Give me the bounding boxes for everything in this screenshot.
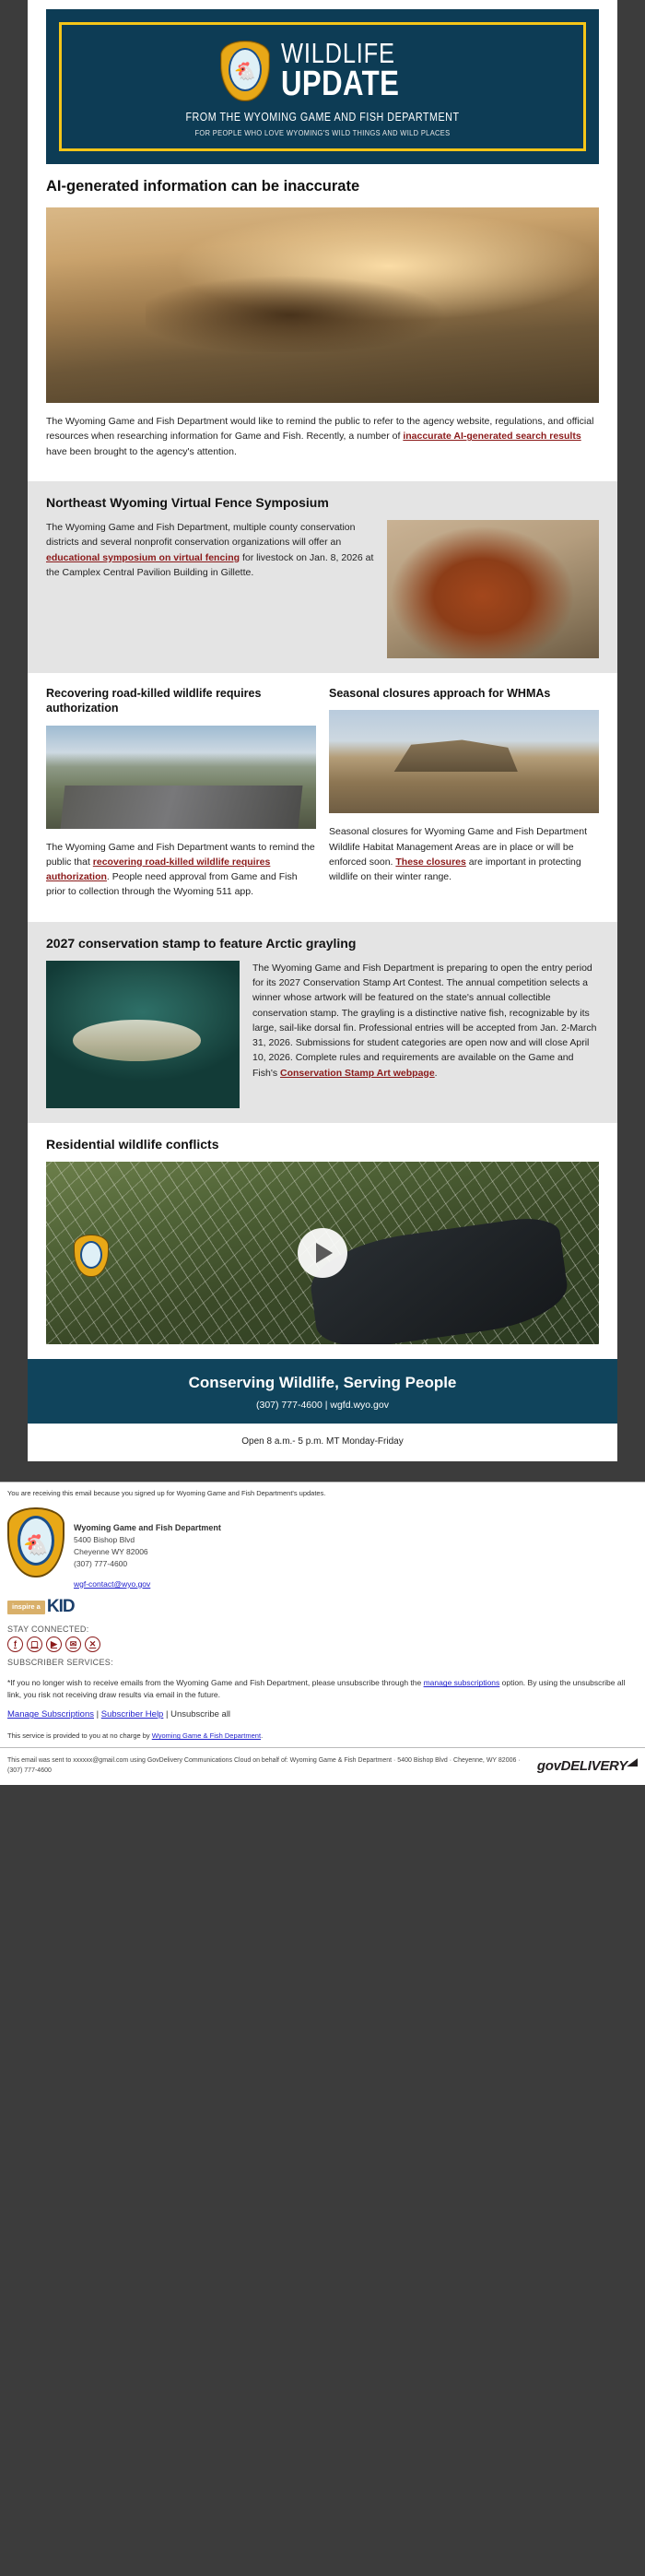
agency-link[interactable]: Wyoming Game & Fish Department <box>152 1731 261 1740</box>
article-body-part1: The Wyoming Game and Fish Department, mu… <box>46 522 355 548</box>
manage-subscriptions-inline-link[interactable]: manage subscriptions <box>424 1678 500 1687</box>
agency-badge-icon: 🐔 <box>220 41 270 101</box>
article-headline: Recovering road-killed wildlife requires… <box>46 686 316 716</box>
masthead-title-update: UPDATE <box>281 66 399 101</box>
article-headline: Residential wildlife conflicts <box>46 1136 599 1152</box>
masthead-tagline: FOR PEOPLE WHO LOVE WYOMING'S WILD THING… <box>101 128 544 137</box>
footer-address-row: 🐔 Wyoming Game and Fish Department 5400 … <box>0 1506 645 1590</box>
link-separator-1: | <box>94 1709 101 1719</box>
manage-subscriptions-link[interactable]: Manage Subscriptions <box>7 1709 94 1719</box>
footer-phone: (307) 777-4600 <box>74 1558 221 1570</box>
subscriber-help-link[interactable]: Subscriber Help <box>101 1709 164 1719</box>
article-headline: Seasonal closures approach for WHMAs <box>329 686 599 701</box>
masthead-container: 🐔 WILDLIFE UPDATE FROM THE WYOMING GAME … <box>28 0 617 164</box>
email-icon[interactable]: ✉ <box>65 1637 81 1652</box>
footer-org-name: Wyoming Game and Fish Department <box>74 1522 221 1535</box>
article-image-virtual-fence-cow <box>387 520 599 658</box>
service-note-part1: This service is provided to you at no ch… <box>7 1731 152 1740</box>
inspire-kid-label: KID <box>47 1597 75 1617</box>
article-image-ai-elk <box>46 207 599 403</box>
instagram-icon[interactable]: ▢ <box>27 1637 42 1652</box>
email-body: 🐔 WILDLIFE UPDATE FROM THE WYOMING GAME … <box>28 0 617 1461</box>
footer-address-text: Wyoming Game and Fish Department 5400 Bi… <box>74 1507 221 1590</box>
link-separator-2: | <box>163 1709 170 1719</box>
article-body: Seasonal closures for Wyoming Game and F… <box>329 824 599 884</box>
office-hours: Open 8 a.m.- 5 p.m. MT Monday-Friday <box>28 1424 617 1461</box>
play-button-icon[interactable] <box>298 1228 347 1278</box>
x-twitter-icon[interactable]: ✕ <box>85 1637 100 1652</box>
govdelivery-flag-icon <box>627 1758 638 1767</box>
article-body-part2: . <box>435 1068 438 1079</box>
article-headline: AI-generated information can be inaccura… <box>46 177 599 196</box>
article-image-arctic-grayling <box>46 961 240 1108</box>
article-video-thumbnail[interactable] <box>46 1162 599 1344</box>
article-body: The Wyoming Game and Fish Department wan… <box>46 840 316 900</box>
govdelivery-logo: govDELIVERY <box>537 1758 638 1774</box>
article-image-whma-butte <box>329 710 599 813</box>
unsubscribe-note: *If you no longer wish to receive emails… <box>0 1673 645 1704</box>
email-page: 🐔 WILDLIFE UPDATE FROM THE WYOMING GAME … <box>0 0 645 1785</box>
article-inline-link[interactable]: These closures <box>395 857 465 868</box>
masthead-titles: WILDLIFE UPDATE <box>281 40 425 101</box>
service-note-part2: . <box>261 1731 263 1740</box>
email-body-wrapper: 🐔 WILDLIFE UPDATE FROM THE WYOMING GAME … <box>0 0 645 1461</box>
article-inline-link[interactable]: educational symposium on virtual fencing <box>46 552 240 563</box>
footer-signup-note: You are receiving this email because you… <box>0 1483 645 1506</box>
article-roadkill: Recovering road-killed wildlife requires… <box>46 686 316 907</box>
facebook-icon[interactable]: f <box>7 1637 23 1652</box>
masthead-title-row: 🐔 WILDLIFE UPDATE <box>71 40 574 101</box>
masthead-title-wildlife: WILDLIFE <box>281 40 399 66</box>
agency-badge-icon: 🐔 <box>7 1507 64 1578</box>
article-media-row: The Wyoming Game and Fish Department is … <box>46 961 599 1108</box>
sent-to-note: This email was sent to xxxxxx@gmail.com … <box>7 1756 530 1776</box>
article-headline: Northeast Wyoming Virtual Fence Symposiu… <box>46 494 599 511</box>
article-two-column-block: Recovering road-killed wildlife requires… <box>28 673 617 922</box>
footer-address-line2: Cheyenne WY 82006 <box>74 1546 221 1558</box>
govdelivery-logo-text: govDELIVERY <box>537 1758 627 1774</box>
article-body-part2: have been brought to the agency's attent… <box>46 446 237 457</box>
article-media-row: The Wyoming Game and Fish Department, mu… <box>46 520 599 658</box>
masthead: 🐔 WILDLIFE UPDATE FROM THE WYOMING GAME … <box>46 9 599 164</box>
article-body: The Wyoming Game and Fish Department, mu… <box>46 520 374 580</box>
article-whma-closures: Seasonal closures approach for WHMAs Sea… <box>329 686 599 907</box>
closing-banner: Conserving Wildlife, Serving People (307… <box>28 1359 617 1424</box>
article-image-roadkill-highway <box>46 726 316 829</box>
article-ai-generated: AI-generated information can be inaccura… <box>28 164 617 480</box>
closing-title: Conserving Wildlife, Serving People <box>37 1374 608 1392</box>
closing-contact: (307) 777-4600 | wgfd.wyo.gov <box>37 1400 608 1411</box>
article-headline: 2027 conservation stamp to feature Arcti… <box>46 935 599 951</box>
govdelivery-footer: You are receiving this email because you… <box>0 1482 645 1785</box>
article-virtual-fence: Northeast Wyoming Virtual Fence Symposiu… <box>28 481 617 673</box>
footer-address-line1: 5400 Bishop Blvd <box>74 1534 221 1546</box>
social-links: f ▢ ▶ ✉ ✕ <box>0 1637 645 1656</box>
two-column-grid: Recovering road-killed wildlife requires… <box>46 686 599 907</box>
subscriber-services-label: SUBSCRIBER SERVICES: <box>0 1656 645 1673</box>
inspire-a-kid-logo: inspire a KID <box>0 1589 645 1619</box>
footer-email-link[interactable]: wgf-contact@wyo.gov <box>74 1579 150 1589</box>
youtube-icon[interactable]: ▶ <box>46 1637 62 1652</box>
masthead-gold-frame: 🐔 WILDLIFE UPDATE FROM THE WYOMING GAME … <box>59 22 586 151</box>
stay-connected-label: STAY CONNECTED: <box>0 1619 645 1637</box>
footer-links-row: Manage Subscriptions | Subscriber Help |… <box>0 1704 645 1726</box>
unsubscribe-all-link[interactable]: Unsubscribe all <box>170 1709 230 1719</box>
inspire-tag-label: inspire a <box>7 1601 45 1613</box>
govdelivery-bottom-bar: This email was sent to xxxxxx@gmail.com … <box>0 1747 645 1785</box>
article-body: The Wyoming Game and Fish Department is … <box>252 961 599 1081</box>
masthead-subtitle: FROM THE WYOMING GAME AND FISH DEPARTMEN… <box>106 111 539 124</box>
unsubscribe-note-part1: *If you no longer wish to receive emails… <box>7 1678 424 1687</box>
article-body: The Wyoming Game and Fish Department wou… <box>46 414 599 459</box>
article-conservation-stamp: 2027 conservation stamp to feature Arcti… <box>28 922 617 1123</box>
service-provided-note: This service is provided to you at no ch… <box>0 1726 645 1747</box>
article-body-part1: The Wyoming Game and Fish Department is … <box>252 963 597 1079</box>
article-residential-conflicts: Residential wildlife conflicts <box>28 1123 617 1359</box>
spacer <box>0 1461 645 1482</box>
article-inline-link[interactable]: inaccurate AI-generated search results <box>403 431 580 442</box>
article-inline-link[interactable]: Conservation Stamp Art webpage <box>280 1068 435 1079</box>
